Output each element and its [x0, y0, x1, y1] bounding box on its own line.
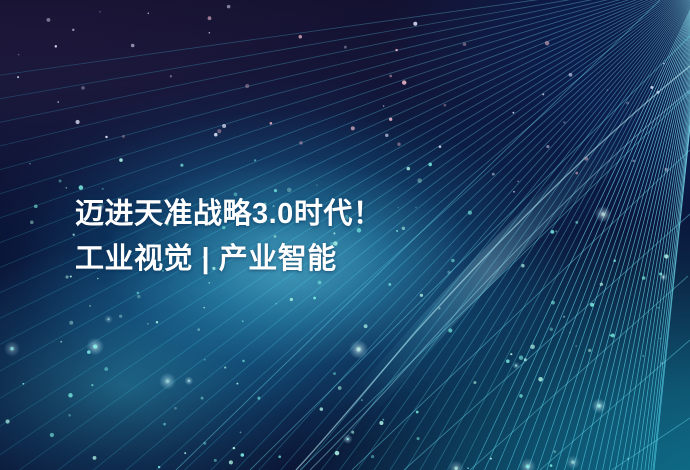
banner-image: 迈进天准战略3.0时代！ 工业视觉 | 产业智能	[0, 0, 690, 470]
headline-line-2: 工业视觉 | 产业智能	[75, 237, 595, 282]
headline-block: 迈进天准战略3.0时代！ 工业视觉 | 产业智能	[75, 192, 595, 282]
headline-line-1: 迈进天准战略3.0时代！	[75, 192, 595, 237]
